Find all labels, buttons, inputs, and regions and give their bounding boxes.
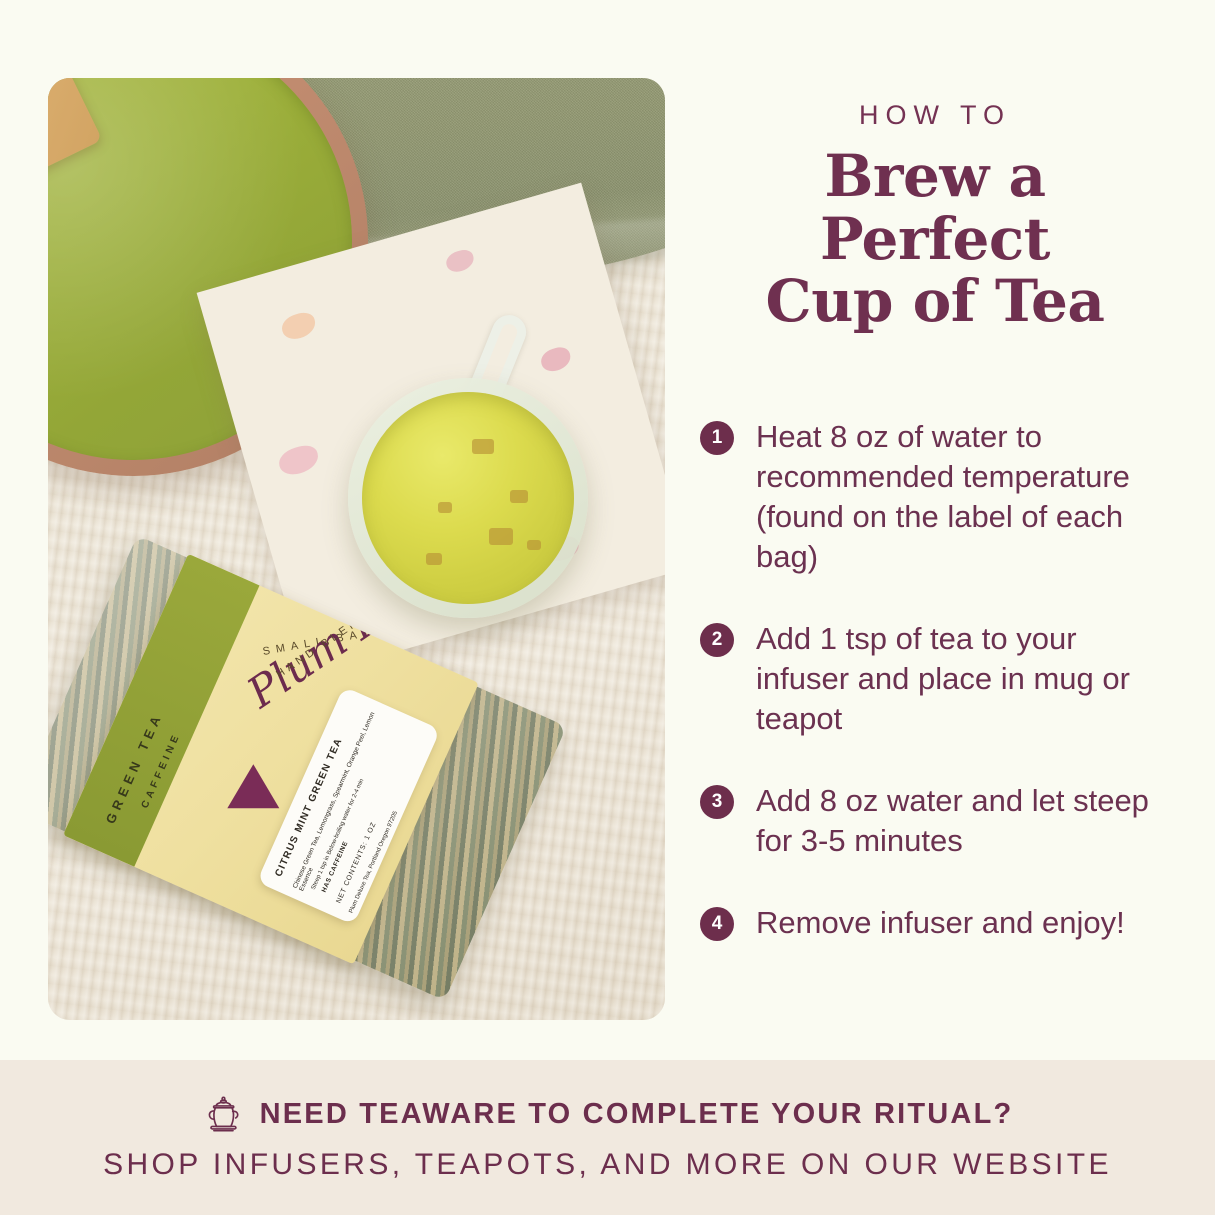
steps-list: 1 Heat 8 oz of water to recommended temp… bbox=[700, 417, 1170, 943]
step-number-badge: 2 bbox=[700, 623, 734, 657]
cup-body bbox=[348, 378, 588, 618]
step-number-badge: 4 bbox=[700, 907, 734, 941]
glass-teacup bbox=[348, 378, 588, 618]
list-item: 2 Add 1 tsp of tea to your infuser and p… bbox=[700, 619, 1170, 739]
step-text: Remove infuser and enjoy! bbox=[756, 903, 1125, 943]
title-line-1: Brew a Perfect bbox=[820, 142, 1050, 273]
poster-canvas: GREEN TEA CAFFEINE SMALL BATCH Plum Delu… bbox=[0, 0, 1215, 1215]
title-line-2: Cup of Tea bbox=[766, 267, 1105, 335]
teapot-icon bbox=[202, 1094, 244, 1136]
list-item: 3 Add 8 oz water and let steep for 3-5 m… bbox=[700, 781, 1170, 861]
table-surface: GREEN TEA CAFFEINE SMALL BATCH Plum Delu… bbox=[48, 78, 665, 1020]
step-text: Add 8 oz water and let steep for 3-5 min… bbox=[756, 781, 1170, 861]
step-number-badge: 1 bbox=[700, 421, 734, 455]
footer-subline: SHOP INFUSERS, TEAPOTS, AND MORE ON OUR … bbox=[103, 1148, 1112, 1182]
hero-photo: GREEN TEA CAFFEINE SMALL BATCH Plum Delu… bbox=[48, 78, 665, 1020]
step-text: Heat 8 oz of water to recommended temper… bbox=[756, 417, 1170, 577]
step-text: Add 1 tsp of tea to your infuser and pla… bbox=[756, 619, 1170, 739]
page-title: Brew a Perfect Cup of Tea bbox=[700, 145, 1170, 333]
list-item: 4 Remove infuser and enjoy! bbox=[700, 903, 1170, 943]
instructions-panel: HOW TO Brew a Perfect Cup of Tea 1 Heat … bbox=[700, 100, 1170, 985]
footer-headline: NEED TEAWARE TO COMPLETE YOUR RITUAL? bbox=[260, 1098, 1014, 1131]
hummingbird-logo-icon bbox=[227, 764, 279, 808]
footer-banner: NEED TEAWARE TO COMPLETE YOUR RITUAL? SH… bbox=[0, 1060, 1215, 1215]
step-number-badge: 3 bbox=[700, 785, 734, 819]
brewed-tea bbox=[362, 392, 574, 604]
list-item: 1 Heat 8 oz of water to recommended temp… bbox=[700, 417, 1170, 577]
kicker-text: HOW TO bbox=[700, 100, 1170, 131]
footer-headline-row: NEED TEAWARE TO COMPLETE YOUR RITUAL? bbox=[202, 1094, 1014, 1136]
